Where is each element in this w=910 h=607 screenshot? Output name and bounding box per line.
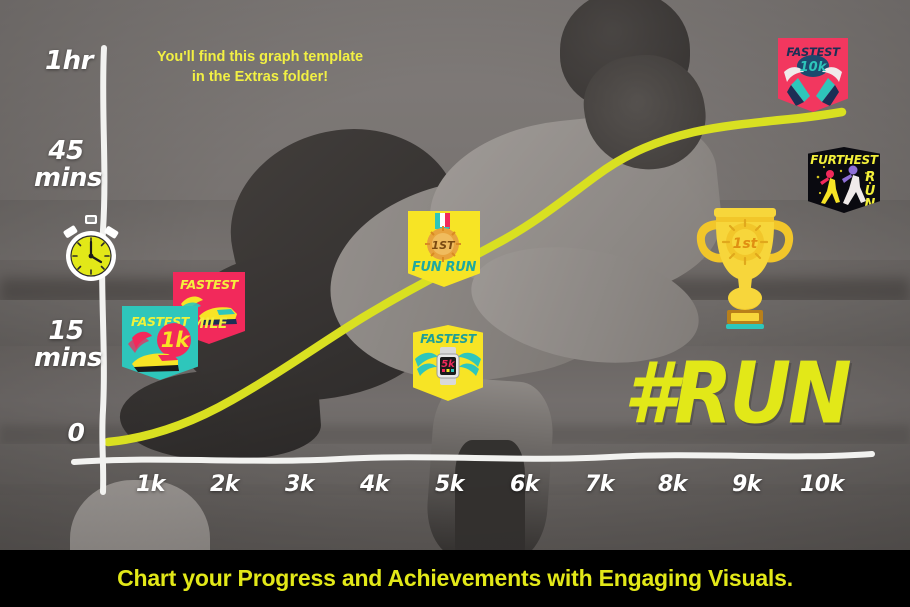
x-axis-label-2k: 2k (210, 472, 239, 497)
trophy-icon: 1st (690, 198, 800, 333)
svg-text:5k: 5k (441, 359, 456, 370)
badge-fun-run[interactable]: 1ST FUN RUN (408, 211, 480, 287)
y-axis-label-1hr: 1hr (40, 48, 98, 75)
y-axis-label-15mins: 15 mins (34, 318, 98, 371)
badge-fastest-10k[interactable]: FASTEST 10k (778, 38, 848, 112)
badge-value: FUN RUN (408, 260, 480, 275)
x-axis-label-9k: 9k (732, 472, 761, 497)
extras-folder-note: You'll find this graph template in the E… (150, 48, 370, 87)
svg-text:1ST: 1ST (431, 239, 456, 252)
x-axis-label-7k: 7k (585, 472, 614, 497)
x-axis-label-5k: 5k (435, 472, 464, 497)
caption-text: Chart your Progress and Achievements wit… (117, 565, 793, 592)
y-axis-label-45mins: 45 mins (34, 138, 98, 191)
badge-value: 1k (160, 328, 190, 352)
x-axis-label-1k: 1k (136, 472, 165, 497)
poster-canvas: 1hr 45 mins 15 mins 0 1k 2k 3k 4k 5k 6k … (0, 0, 910, 607)
caption-bar: Chart your Progress and Achievements wit… (0, 550, 910, 607)
hashtag-run-wordmark: #RUN (624, 343, 849, 443)
badge-fastest-1k[interactable]: FASTEST 1k (122, 306, 198, 380)
x-axis-label-10k: 10k (800, 472, 844, 497)
stopwatch-icon (60, 215, 122, 283)
svg-text:1st: 1st (733, 236, 759, 252)
x-axis-label-3k: 3k (285, 472, 314, 497)
x-axis-label-6k: 6k (510, 472, 539, 497)
svg-text:10k: 10k (800, 60, 828, 75)
badge-furthest-run[interactable]: FURTHEST RUN (808, 147, 880, 213)
y-axis-label-0: 0 (58, 420, 94, 446)
badge-fastest-5k[interactable]: FASTEST 5k (413, 325, 483, 401)
x-axis-label-8k: 8k (658, 472, 687, 497)
x-axis-label-4k: 4k (360, 472, 389, 497)
